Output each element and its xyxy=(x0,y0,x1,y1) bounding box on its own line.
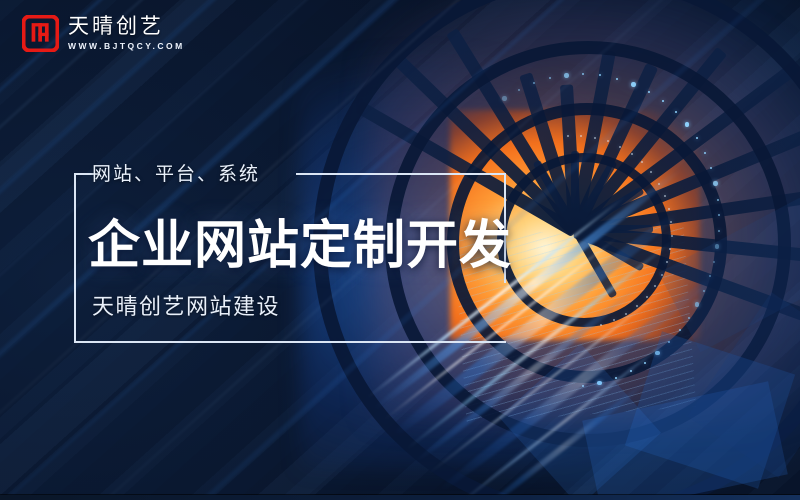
promo-banner: 天晴创艺 WWW.BJTQCY.COM 网站、平台、系统 企业网站定制开发 天晴… xyxy=(0,0,800,500)
bottom-strip xyxy=(0,495,800,500)
frame-left-vertical xyxy=(74,173,76,343)
brand-name: 天晴创艺 xyxy=(68,16,185,38)
eyebrow-text: 网站、平台、系统 xyxy=(92,159,260,186)
tqcy-monogram-icon xyxy=(22,15,59,52)
frame-top-rule xyxy=(296,173,506,175)
brand-website: WWW.BJTQCY.COM xyxy=(68,41,185,51)
brand-text: 天晴创艺 WWW.BJTQCY.COM xyxy=(68,16,185,51)
page-title: 企业网站定制开发 xyxy=(88,203,512,278)
brand-logo[interactable]: 天晴创艺 WWW.BJTQCY.COM xyxy=(22,15,185,52)
frame-bottom-horizontal xyxy=(74,341,506,343)
light-beam xyxy=(414,280,647,464)
subtitle-text: 天晴创艺网站建设 xyxy=(92,289,280,321)
